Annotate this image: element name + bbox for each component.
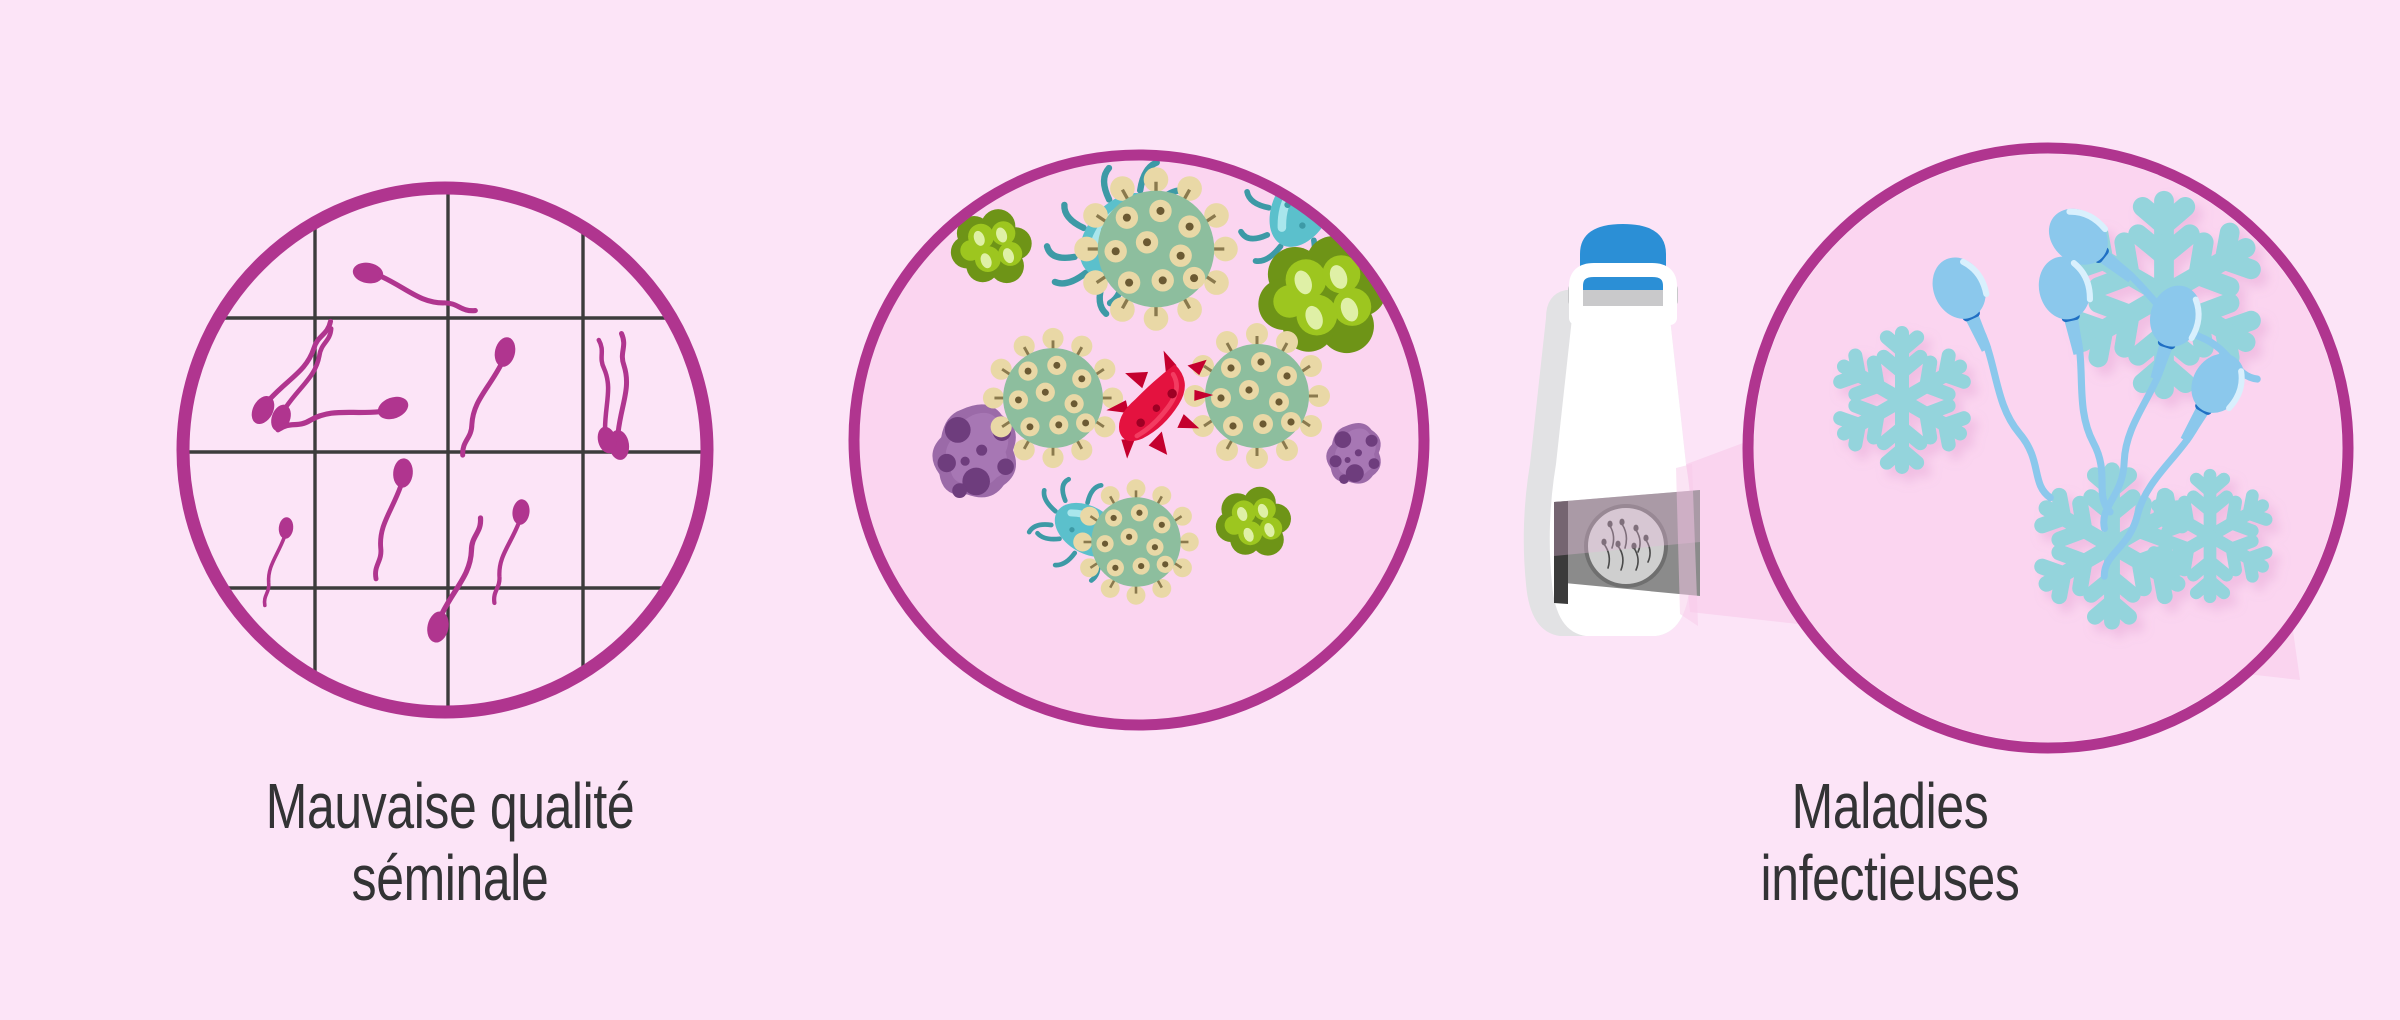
snowflake	[1835, 333, 1969, 467]
counting-grid	[150, 150, 760, 760]
cryotank	[1524, 224, 1700, 636]
snowflake	[2149, 475, 2271, 597]
cryotank-frozen-sperm-icon	[1440, 0, 2400, 1020]
tank-lid	[1580, 224, 1666, 290]
infographic-stage: Mauvaise qualité séminale	[0, 0, 2400, 1020]
magnifier-fill	[1754, 154, 2342, 742]
panel-special-patients: Patients spéciaux avec sperme congelé	[1440, 0, 2400, 1020]
caption-poor-semen-quality: Mauvaise qualité séminale	[99, 770, 801, 915]
